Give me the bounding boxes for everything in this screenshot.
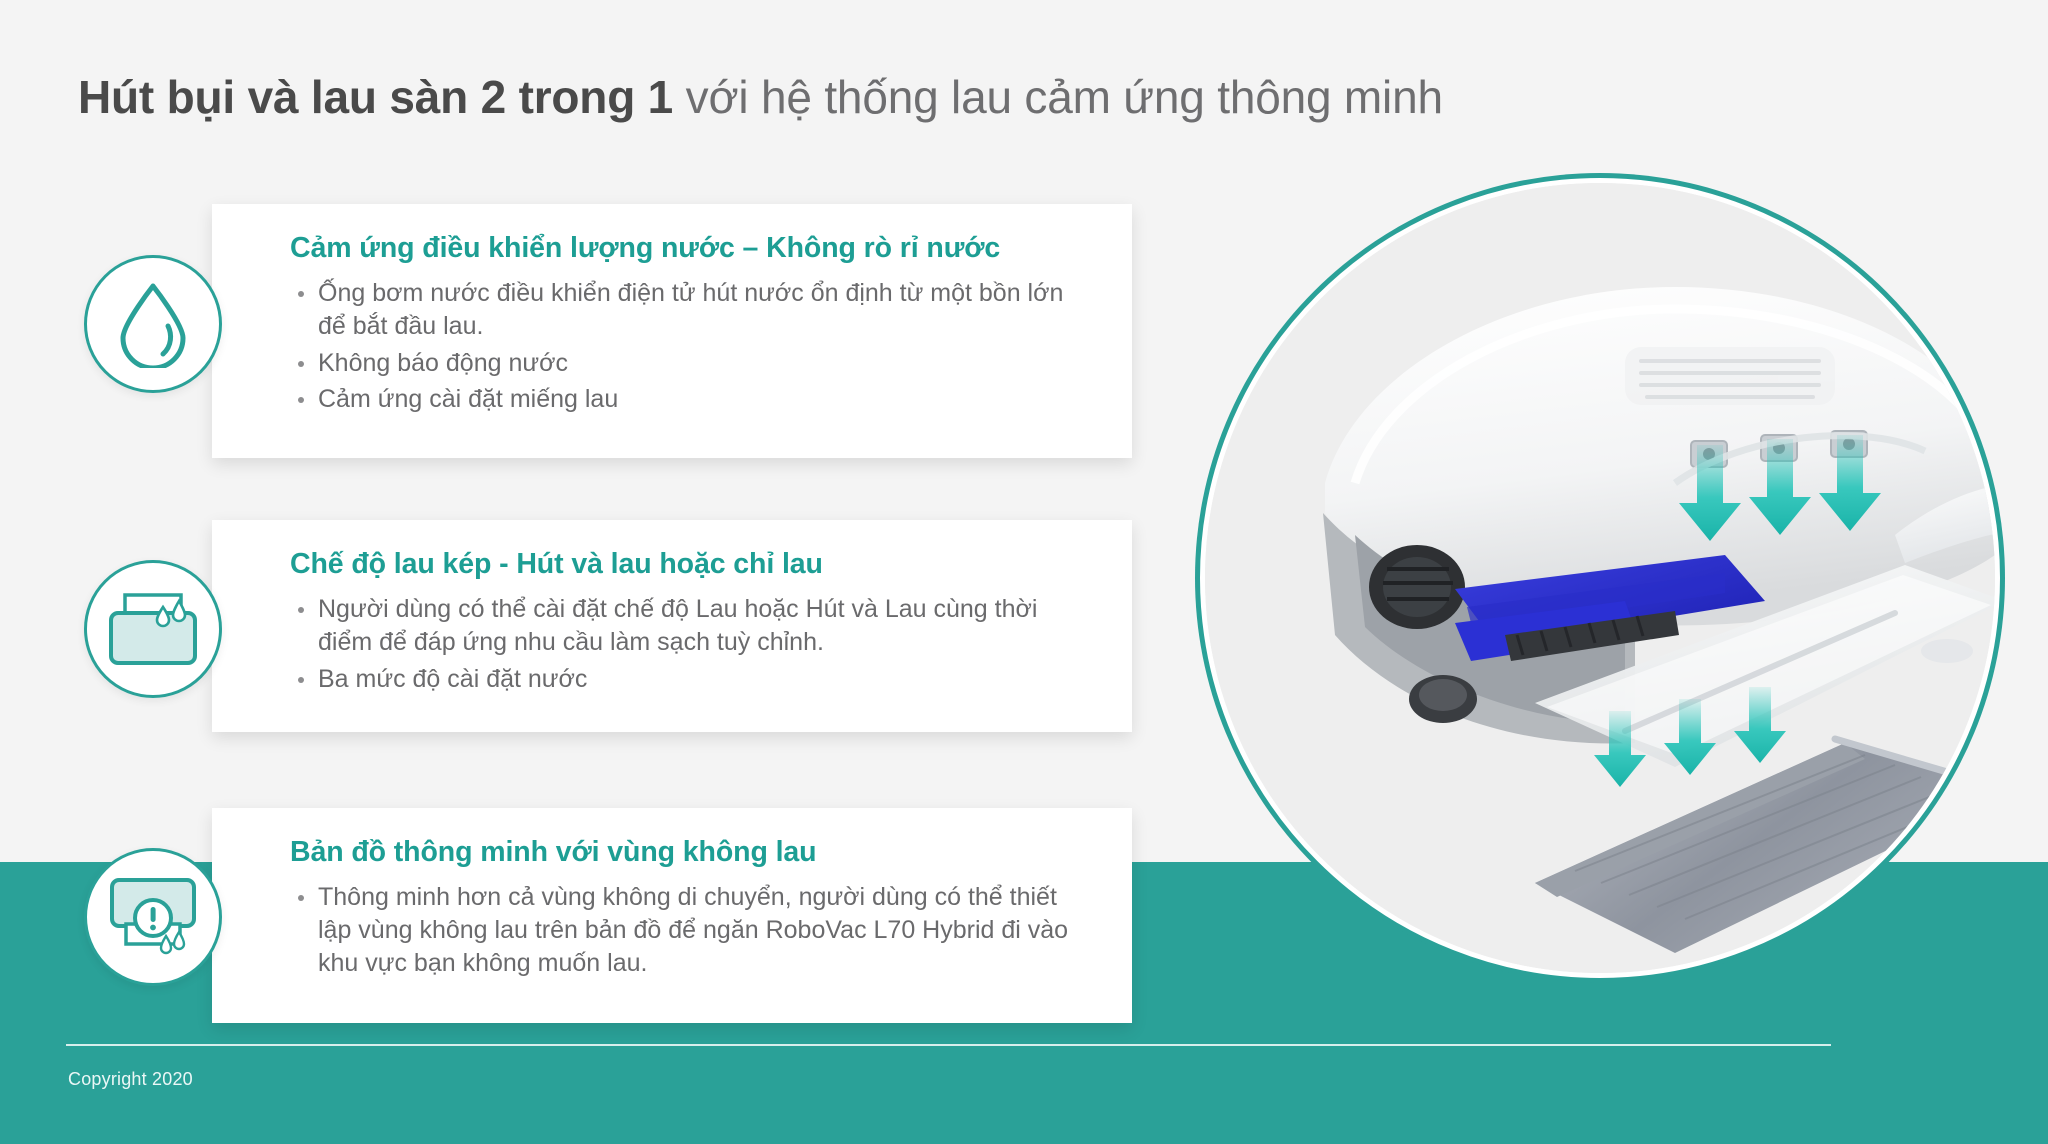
water-drop-icon-badge	[84, 255, 222, 393]
feature-card-water-control: Cảm ứng điều khiển lượng nước – Không rò…	[212, 204, 1132, 458]
feature-bullet-list: Người dùng có thể cài đặt chế độ Lau hoặ…	[290, 593, 1096, 695]
no-mop-zone-map-icon	[104, 874, 202, 960]
feature-bullet-list: Ống bơm nước điều khiển điện tử hút nước…	[290, 277, 1096, 416]
water-tank-icon	[105, 589, 201, 669]
feature-bullet-list: Thông minh hơn cả vùng không di chuyển, …	[290, 881, 1096, 979]
page-title: Hút bụi và lau sàn 2 trong 1 với hệ thốn…	[78, 70, 1443, 124]
water-drop-icon	[113, 280, 193, 368]
footer-divider	[66, 1044, 1831, 1046]
footer-copyright: Copyright 2020	[68, 1069, 193, 1090]
list-item: Cảm ứng cài đặt miếng lau	[290, 383, 1096, 416]
page-title-light: với hệ thống lau cảm ứng thông minh	[673, 71, 1443, 123]
water-tank-icon-badge	[84, 560, 222, 698]
product-photo-circle	[1200, 178, 2000, 978]
page-title-strong: Hút bụi và lau sàn 2 trong 1	[78, 71, 673, 123]
feature-card-heading: Chế độ lau kép - Hút và lau hoặc chỉ lau	[290, 548, 1096, 581]
list-item: Thông minh hơn cả vùng không di chuyển, …	[290, 881, 1096, 979]
slide-root: Hút bụi và lau sàn 2 trong 1 với hệ thốn…	[0, 0, 2048, 1144]
list-item: Người dùng có thể cài đặt chế độ Lau hoặ…	[290, 593, 1096, 659]
feature-card-heading: Cảm ứng điều khiển lượng nước – Không rò…	[290, 232, 1096, 265]
feature-card-dual-mop-mode: Chế độ lau kép - Hút và lau hoặc chỉ lau…	[212, 520, 1132, 732]
product-photo	[1205, 183, 1995, 973]
list-item: Ống bơm nước điều khiển điện tử hút nước…	[290, 277, 1096, 343]
feature-card-smart-map: Bản đồ thông minh với vùng không lau Thô…	[212, 808, 1132, 1023]
list-item: Không báo động nước	[290, 347, 1096, 380]
flow-arrow-set-upper	[1679, 435, 1881, 541]
feature-card-heading: Bản đồ thông minh với vùng không lau	[290, 836, 1096, 869]
no-mop-zone-map-icon-badge	[84, 848, 222, 986]
robot-vacuum-underside-illustration	[1205, 183, 1995, 973]
list-item: Ba mức độ cài đặt nước	[290, 663, 1096, 696]
